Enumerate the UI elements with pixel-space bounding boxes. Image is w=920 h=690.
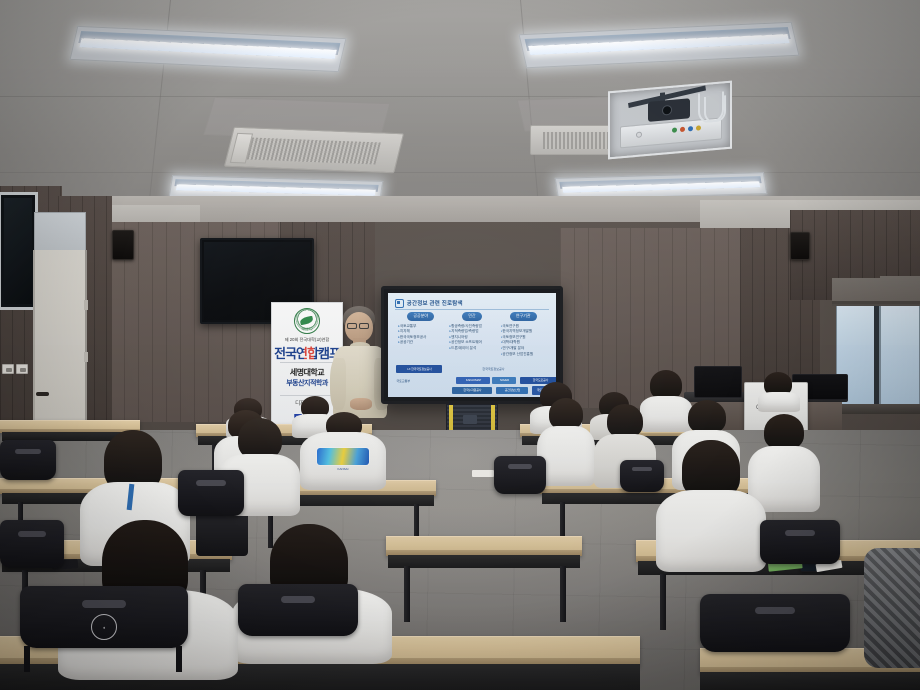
slide-bullet: 공간정보 산업진흥원 [501,352,546,358]
chair-emblem: ♦ [91,614,117,640]
window-mullion [874,296,879,410]
ceiling-ac-unit [224,127,404,174]
chair[interactable] [238,584,358,636]
slide-bullet: 공공기관 [398,340,443,346]
presenter-hands [350,398,372,410]
slide-bullet: 드론/데이터 분석 [449,346,494,352]
desk-apron [388,555,580,568]
ceiling-seam [0,172,920,173]
wall-outlet[interactable] [2,364,14,374]
slide-bullet-list: 국토연구원 한국지역정보개발원 국토정보연구원 대학/대학원 연구/개발 분야 … [501,324,546,357]
slide-logo-strip: LX 한국국토정보공사 국토교통부 한국국토정보공사 KAKAOMAP NAVE… [396,363,547,393]
student-torso [758,392,800,412]
chair-with-emblem[interactable]: ♦ [20,586,188,648]
student [864,548,920,668]
student-hair [607,404,643,438]
slide-logo: 한국국토정보공사 [482,367,504,371]
door-handle[interactable] [36,392,49,396]
student-sleeve [864,548,920,668]
slide-column: 공공분야 국토교통부 지자체 한국국토정보공사 공공기관 [398,312,443,362]
door-hinge [84,352,88,362]
student-hair [688,400,726,434]
chair[interactable] [620,460,664,492]
slide-title: 공간정보 관련 진로탐색 [407,299,463,307]
slide-logo: KAKAOMAP [456,377,490,384]
slide-logo: 공간정보산업 [496,387,528,394]
chair[interactable] [0,520,64,568]
slide-logo: 국토교통부 [396,379,410,383]
slide-body: 공공분야 국토교통부 지자체 한국국토정보공사 공공기관 민간 항공측량/사진측… [398,312,546,362]
eyeglasses [347,323,357,329]
wall-speaker [790,232,810,260]
wall-outlet[interactable] [16,364,28,374]
slide-title-icon [395,299,404,308]
slide-column: 연구기관 국토연구원 한국지역정보개발원 국토정보연구원 대학/대학원 연구/개… [501,312,546,362]
university-emblem: 세명대학교 [294,308,320,334]
right-window [880,300,920,412]
projector-recess [608,81,732,160]
teacher-monitor [694,366,742,398]
desk-apron [700,672,920,690]
chair[interactable] [0,440,56,480]
chair[interactable] [494,456,546,494]
slide-logo: NAVER [492,377,516,384]
slide-column-header: 연구기관 [510,312,537,321]
chair[interactable] [178,470,244,516]
tshirt-graphic-caption: KANSAI [337,467,348,471]
white-handout [472,470,494,477]
chair[interactable] [760,520,840,564]
chair[interactable] [700,594,850,652]
desk-leg [660,574,666,630]
slide-logo: 한국수자원공사 [452,387,492,394]
student [656,440,766,566]
student-hair [764,414,804,450]
student-torso [656,490,766,572]
slide-column: 민간 항공측량/사진측량업 지적측량업/측량업 엔지니어링 공간정보 소프트웨어… [449,312,494,362]
student-with-graphic-shirt: KANSAI [300,412,386,488]
ceiling-seam [0,96,920,97]
window-blind[interactable] [832,278,882,306]
door-hinge [84,300,88,310]
chair-leg [176,646,182,672]
wall-speaker [112,230,134,260]
door-transom [34,212,86,252]
slide-logo: LX 한국국토정보공사 [396,365,442,373]
desk-leg [404,566,410,622]
slide-column-header: 민간 [462,312,481,321]
slide-column-header: 공공분야 [407,312,434,321]
student [758,372,800,408]
desk [386,536,582,556]
classroom-photo: 세명대학교 제 20회 전국대학(교)연합 전국연합캠프 세명대학교 부동산지적… [0,0,920,690]
eyeglasses [359,323,369,329]
slide-title-underline [395,309,550,310]
chair-leg [24,646,30,672]
tshirt-graphic [317,448,369,465]
desk-leg [560,566,566,622]
emblem-text: 세명대학교 [295,327,319,331]
window-blind[interactable] [880,276,920,306]
slide-bullet-list: 항공측량/사진측량업 지적측량업/측량업 엔지니어링 공간정보 소프트웨어 드론… [449,324,494,352]
slide-bullet-list: 국토교통부 지자체 한국국토정보공사 공공기관 [398,324,443,346]
entry-door[interactable] [33,250,87,438]
